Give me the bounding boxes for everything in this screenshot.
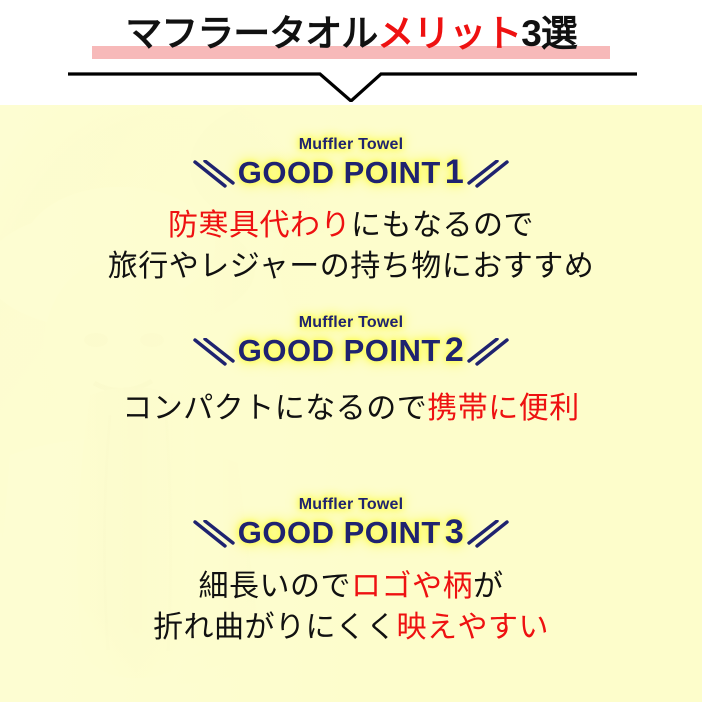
description-1-line-1-black: にもなるので [351,209,534,242]
good-point-2-description: コンパクトになるので携帯に便利 [0,388,702,429]
double-slash-left-icon [192,338,236,368]
double-slash-left-icon [192,160,236,190]
description-2-line-1-black: コンパクトになるので [122,392,427,425]
description-3-line-1-black-a: 細長いので [199,570,352,603]
double-slash-right-icon [466,338,510,368]
description-1-line-1-red: 防寒具代わり [168,209,351,242]
badge-2-number: 2 [441,331,464,369]
badge-1-main: GOOD POINT1 [238,154,465,191]
double-slash-right-icon [466,520,510,550]
description-3-line-1: 細長いのでロゴや柄が [0,566,702,607]
badge-3-label: GOOD POINT [238,515,441,550]
good-point-3-heading: Muffler Towel GOOD POINT3 [0,495,702,551]
good-point-2-heading: Muffler Towel GOOD POINT2 [0,313,702,369]
badge-1-number: 1 [441,153,464,191]
description-3-line-2: 折れ曲がりにくく映えやすい [0,607,702,648]
description-1-line-1: 防寒具代わりにもなるので [0,205,702,246]
badge-2-eyebrow: Muffler Towel [238,313,465,332]
content-panel: Muffler Towel GOOD POINT1 防寒具代わりにもなるので 旅… [0,105,702,702]
badge-3: Muffler Towel GOOD POINT3 [196,495,507,551]
description-3-line-1-black-b: が [473,570,504,603]
badge-2-main: GOOD POINT2 [238,332,465,369]
good-point-1-heading: Muffler Towel GOOD POINT1 [0,135,702,191]
description-3-line-2-red: 映えやすい [396,611,549,644]
badge-3-eyebrow: Muffler Towel [238,495,465,514]
badge-1-eyebrow: Muffler Towel [238,135,465,154]
description-3-line-2-black: 折れ曲がりにくく [153,611,396,644]
badge-3-main: GOOD POINT3 [238,514,465,551]
promo-banner: マフラータオルメリット3選 [0,0,702,702]
double-slash-right-icon [466,160,510,190]
double-slash-left-icon [192,520,236,550]
badge-1-label: GOOD POINT [238,155,441,190]
chevron-down-divider-icon [0,60,702,102]
description-3-line-1-red: ロゴや柄 [351,570,473,603]
description-2-line-1: コンパクトになるので携帯に便利 [0,388,702,429]
title-text: マフラータオルメリット3選 [125,8,577,60]
title-segment-black-1: マフラータオル [125,13,377,54]
good-point-3-description: 細長いのでロゴや柄が 折れ曲がりにくく映えやすい [0,566,702,648]
badge-3-number: 3 [441,513,464,551]
badge-2: Muffler Towel GOOD POINT2 [196,313,507,369]
badge-1: Muffler Towel GOOD POINT1 [196,135,507,191]
description-1-line-2: 旅行やレジャーの持ち物におすすめ [0,246,702,287]
title-segment-black-2: 3選 [521,13,577,54]
badge-2-label: GOOD POINT [238,333,441,368]
description-2-line-1-red: 携帯に便利 [427,392,580,425]
page-title: マフラータオルメリット3選 [0,8,702,60]
good-point-1-description: 防寒具代わりにもなるので 旅行やレジャーの持ち物におすすめ [0,205,702,287]
title-segment-red: メリット [377,13,521,54]
banner-header: マフラータオルメリット3選 [0,0,702,105]
